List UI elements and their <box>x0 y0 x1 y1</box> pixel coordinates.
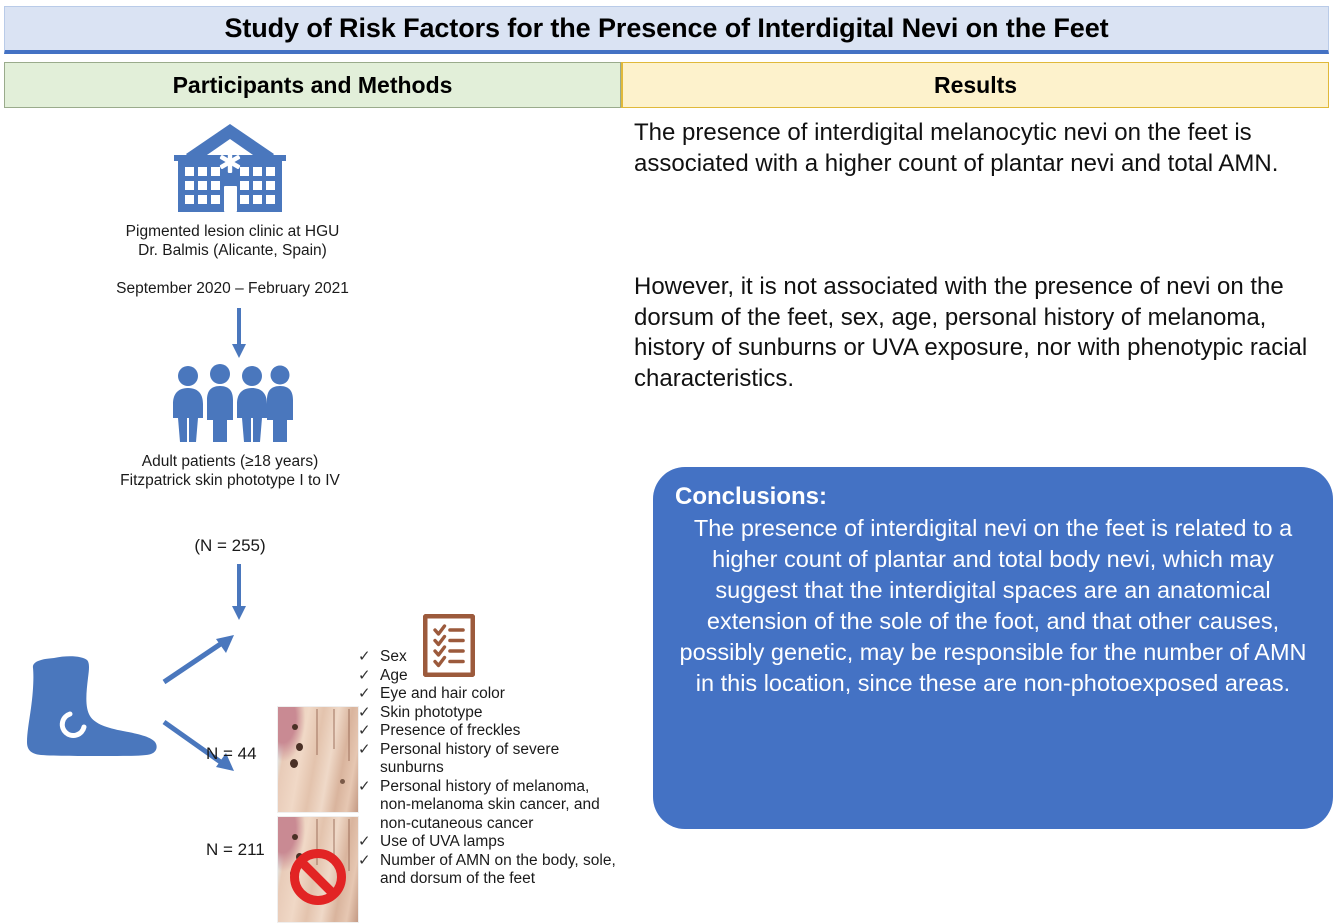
section-header-results: Results <box>621 62 1329 108</box>
prohibited-icon <box>290 849 346 905</box>
page-title: Study of Risk Factors for the Presence o… <box>224 13 1108 44</box>
list-item-label: Age <box>380 667 440 686</box>
conclusions-box: Conclusions: The presence of interdigita… <box>653 467 1333 829</box>
results-panel: The presence of interdigital melanocytic… <box>625 112 1333 845</box>
list-item-label: Personal history of melanoma, non-melano… <box>380 778 616 834</box>
graphical-abstract: Study of Risk Factors for the Presence o… <box>0 0 1333 845</box>
list-item-label: Personal history of severe sunburns <box>380 741 616 778</box>
check-icon: ✓ <box>358 667 380 686</box>
sample-size-label: (N = 255) <box>60 536 400 556</box>
check-icon: ✓ <box>358 722 380 741</box>
list-item: ✓ Skin phototype <box>358 704 616 723</box>
list-item: ✓ Presence of freckles <box>358 722 616 741</box>
clinic-name-line-2: Dr. Balmis (Alicante, Spain) <box>40 241 425 260</box>
clinic-name-line-1: Pigmented lesion clinic at HGU <box>40 222 425 241</box>
inclusion-criteria-line-1: Adult patients (≥18 years) <box>30 452 430 471</box>
list-item-label: Sex <box>380 648 440 667</box>
list-item-label: Number of AMN on the body, sole, and dor… <box>380 852 616 889</box>
list-item: ✓ Personal history of melanoma, non-mela… <box>358 778 616 834</box>
check-icon: ✓ <box>358 741 380 760</box>
people-group-icon <box>168 364 296 444</box>
branch-label-with-nevi: N = 44 <box>206 744 257 764</box>
section-header-results-label: Results <box>934 72 1017 99</box>
list-item: ✓ Eye and hair color <box>358 685 616 704</box>
down-arrow-icon <box>228 308 250 360</box>
branch-label-without-nevi: N = 211 <box>206 840 265 860</box>
section-header-participants-methods: Participants and Methods <box>4 62 621 108</box>
page-title-band: Study of Risk Factors for the Presence o… <box>4 6 1329 54</box>
list-item: ✓ Sex <box>358 648 616 667</box>
list-item-label: Presence of freckles <box>380 722 616 741</box>
foot-icon <box>24 652 159 762</box>
down-arrow-icon-2 <box>228 564 250 622</box>
check-icon: ✓ <box>358 648 380 667</box>
list-item: ✓ Age <box>358 667 616 686</box>
check-icon: ✓ <box>358 704 380 723</box>
section-header-participants-methods-label: Participants and Methods <box>173 72 453 99</box>
variables-checklist: ✓ Sex ✓ Age ✓ Eye and hair color ✓ Skin … <box>358 648 616 889</box>
list-item-label: Eye and hair color <box>380 685 616 704</box>
branch-arrow-up-icon <box>160 632 240 687</box>
inclusion-criteria-line-2: Fitzpatrick skin phototype I to IV <box>30 471 430 490</box>
section-header-row: Participants and Methods Results <box>4 62 1329 108</box>
list-item: ✓ Use of UVA lamps <box>358 833 616 852</box>
participants-methods-panel: Pigmented lesion clinic at HGU Dr. Balmi… <box>0 112 621 845</box>
conclusions-title: Conclusions: <box>675 481 1311 512</box>
list-item-label: Skin phototype <box>380 704 616 723</box>
check-icon: ✓ <box>358 852 380 871</box>
list-item-label: Use of UVA lamps <box>380 833 616 852</box>
conclusions-body: The presence of interdigital nevi on the… <box>675 513 1311 699</box>
hospital-icon <box>170 122 290 214</box>
check-icon: ✓ <box>358 833 380 852</box>
toes-with-interdigital-nevus-photo <box>277 706 359 813</box>
results-paragraph-2: However, it is not associated with the p… <box>634 272 1333 394</box>
check-icon: ✓ <box>358 778 380 797</box>
check-icon: ✓ <box>358 685 380 704</box>
results-paragraph-1: The presence of interdigital melanocytic… <box>634 118 1333 179</box>
list-item: ✓ Personal history of severe sunburns <box>358 741 616 778</box>
toes-without-interdigital-nevus-photo <box>277 816 359 923</box>
study-period: September 2020 – February 2021 <box>40 279 425 298</box>
list-item: ✓ Number of AMN on the body, sole, and d… <box>358 852 616 889</box>
